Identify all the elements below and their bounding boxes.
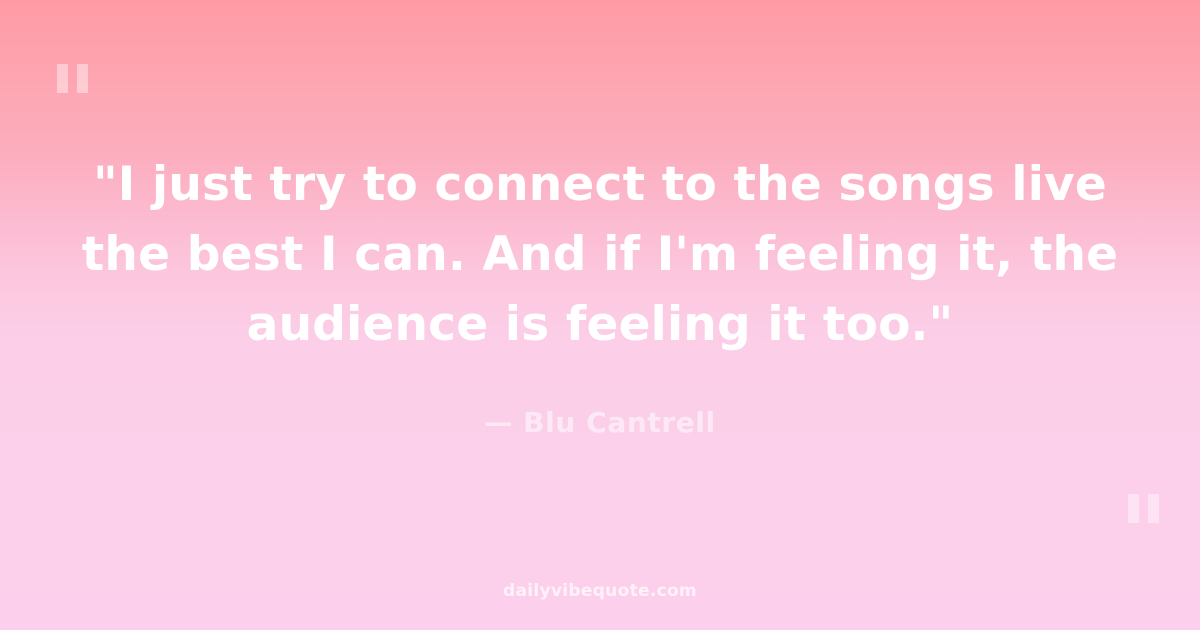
quote-card: "I just try to connect to the songs live… xyxy=(0,0,1200,630)
quote-text: "I just try to connect to the songs live… xyxy=(70,150,1130,360)
quote-bar-right xyxy=(77,64,88,93)
quote-bar-right xyxy=(1148,494,1159,523)
quote-mark-close-icon xyxy=(1128,494,1159,523)
quote-attribution: — Blu Cantrell xyxy=(484,406,716,439)
site-watermark: dailyvibequote.com xyxy=(0,581,1200,601)
quote-mark-open-icon xyxy=(57,64,88,93)
quote-content: "I just try to connect to the songs live… xyxy=(0,150,1200,439)
quote-bar-left xyxy=(57,64,68,93)
quote-bar-left xyxy=(1128,494,1139,523)
